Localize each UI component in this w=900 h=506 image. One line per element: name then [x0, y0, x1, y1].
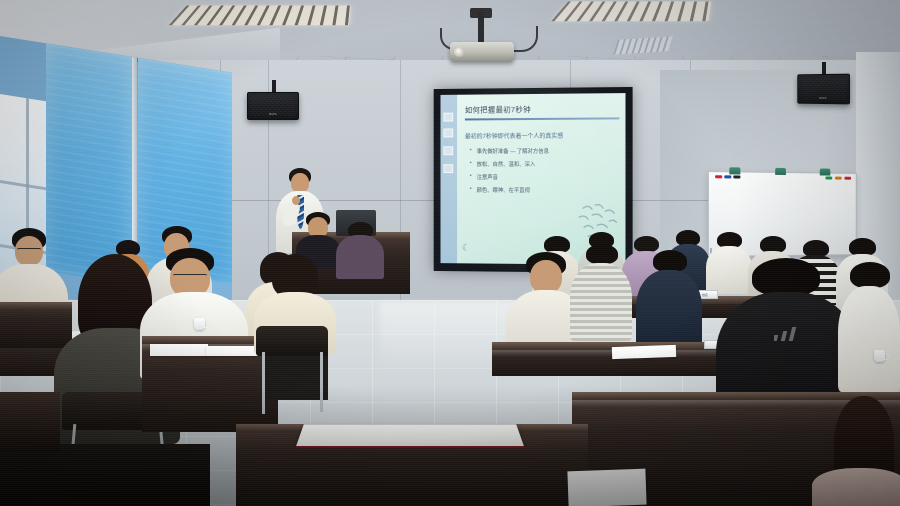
slide-bullet: 事先做好准备 — 了解对方信息: [477, 146, 620, 155]
presenter-hand: [292, 196, 300, 205]
open-binder[interactable]: [296, 424, 524, 446]
speaker-left: BMB: [247, 92, 299, 120]
glasses-icon: [173, 274, 207, 280]
whiteboard-marker-blue[interactable]: [724, 175, 731, 178]
slide-bullet: 颜色、眼神、在平直视: [477, 185, 620, 193]
front-participant-purple: [336, 222, 384, 278]
participant-hair: [653, 250, 687, 272]
classroom-photo: BMB BMB 如何把握最初7秒钟 最初的7秒钟即代表着一个人的真实感 事先做好…: [0, 0, 900, 506]
paper-cup[interactable]: [874, 350, 885, 362]
slide-bullet-list: 事先做好准备 — 了解对方信息 放松、自然、温和、深入 注意声音 颜色、眼神、在…: [465, 146, 620, 193]
foreground-desk-left: [0, 392, 60, 452]
ceiling-projector: [450, 42, 514, 62]
chair-leg: [320, 352, 323, 412]
speaker-right-badge: BMB: [819, 96, 826, 100]
foreground-chair-left: [0, 444, 210, 506]
participant-torso: [570, 263, 632, 341]
whiteboard-marker-orange[interactable]: [835, 177, 842, 180]
slide-sidebar: [440, 95, 457, 264]
whiteboard-clip-3: [820, 169, 830, 176]
audience-member-navy: [636, 250, 702, 354]
speaker-left-badge: BMB: [269, 112, 277, 116]
adidas-logo-icon: [774, 324, 804, 342]
whiteboard-clip-2: [775, 168, 786, 175]
participant-torso: [838, 286, 900, 392]
handout[interactable]: [150, 344, 208, 356]
participant-head: [530, 260, 562, 294]
audience-member-white-shirt-right: [838, 262, 900, 392]
whiteboard-marker-red-2[interactable]: [844, 177, 851, 180]
participant-hair: [850, 262, 890, 288]
whiteboard-clip-1: [729, 167, 740, 174]
whiteboard-marker-red[interactable]: [715, 175, 722, 178]
audience-member-woman-foreground: [812, 396, 900, 506]
ceiling-vent: [613, 36, 673, 55]
whiteboard-marker-green[interactable]: [826, 176, 833, 179]
participant-hair: [752, 258, 820, 296]
participant-torso: [812, 468, 900, 506]
slide-title-rule: [465, 117, 620, 120]
chair-leg: [262, 352, 265, 414]
slide-bullet: 放松、自然、温和、深入: [477, 159, 620, 167]
projector-lens: [454, 47, 465, 57]
ceiling-light-fixture-2: [551, 2, 711, 22]
slide-title: 如何把握最初7秒钟: [465, 103, 620, 115]
presenter-head: [291, 173, 309, 193]
slide-moon-icon: ☾: [462, 242, 470, 253]
slide-bullet: 注意声音: [477, 172, 620, 180]
glasses-icon: [17, 248, 41, 253]
handout[interactable]: [567, 469, 646, 506]
whiteboard-marker-black[interactable]: [733, 175, 740, 178]
participant-hair: [586, 244, 618, 264]
speaker-right: BMB: [797, 74, 850, 105]
paper-cup[interactable]: [194, 318, 205, 330]
handout[interactable]: [612, 345, 676, 359]
slide-lead-text: 最初的7秒钟即代表着一个人的真实感: [465, 130, 620, 140]
projector-arm: [478, 12, 484, 44]
binder-spine: [295, 446, 524, 448]
chair-back[interactable]: [256, 326, 328, 356]
handout[interactable]: [206, 346, 258, 356]
participant-torso: [336, 235, 384, 279]
participant-skirt: [262, 350, 328, 400]
audience-member-striped-polo: [570, 244, 632, 340]
